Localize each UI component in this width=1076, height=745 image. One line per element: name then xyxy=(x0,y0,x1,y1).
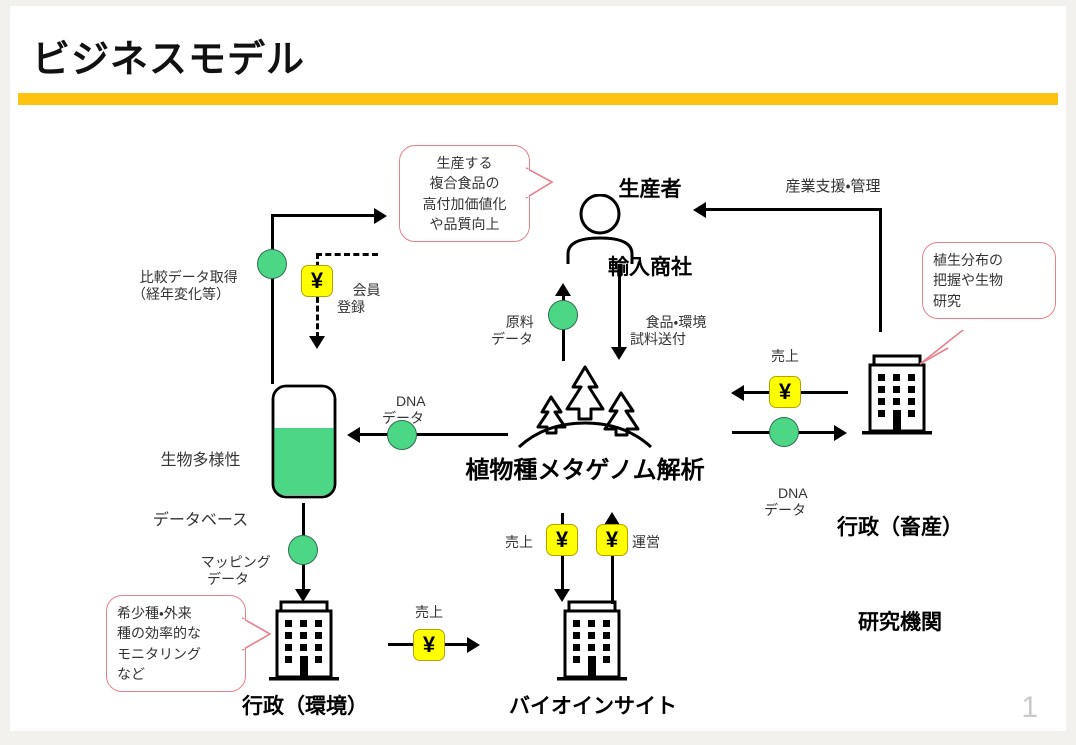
research-callout-tail xyxy=(902,324,972,374)
comparison-data-dot xyxy=(257,249,287,279)
bioinsight-building-icon xyxy=(551,600,633,686)
person-icon xyxy=(555,194,645,266)
comparison-flow-line-top xyxy=(271,214,376,217)
dna-right-arrow xyxy=(834,425,847,441)
bioinsight-label: バイオインサイト xyxy=(495,694,691,720)
research-callout: 植生分布の 把握や生物 研究 xyxy=(922,242,1056,319)
dna-right-dot xyxy=(769,417,799,447)
database-container-icon xyxy=(271,384,337,499)
dna-left-label: DNA データ xyxy=(372,375,434,445)
page-title: ビジネスモデル xyxy=(32,28,305,83)
material-data-label: 原料 データ xyxy=(482,296,542,366)
mapping-data-dot xyxy=(288,535,318,565)
gov-livestock-label: 行政（畜産） 研究機関 xyxy=(820,449,980,701)
gov-environment-building-icon xyxy=(263,600,345,686)
sales-center-badge: ¥ xyxy=(546,524,578,556)
material-data-dot xyxy=(548,300,578,330)
monitoring-callout: 希少種・外来 種の効率的な モニタリング など xyxy=(106,595,246,692)
sales-right-badge: ¥ xyxy=(769,376,801,408)
member-registration-label: 会員 登録 xyxy=(337,264,397,334)
forest-icon xyxy=(515,361,655,453)
industry-support-line-h xyxy=(704,208,882,211)
comparison-data-label: 比較データ取得 （経年変化等） xyxy=(115,251,247,321)
industry-support-line-v xyxy=(879,208,882,332)
producer-callout: 生産する 複合食品の 高付加価値化 や品質向上 xyxy=(399,145,530,242)
dna-left-flow-arrow xyxy=(347,427,360,443)
slide-canvas: ビジネスモデル 生産者 輸入商社 生産する 複合食品の 高付加価値化 や品質向上… xyxy=(10,6,1066,731)
gov-environment-label: 行政（環境） xyxy=(224,694,386,720)
metagenome-label: 植物種メタゲノム解析 xyxy=(455,456,715,486)
sales-right-arrow xyxy=(731,385,744,401)
operation-badge: ¥ xyxy=(596,524,628,556)
sales-right-label: 売上 xyxy=(763,348,807,366)
sales-bottom-arrow xyxy=(467,637,480,653)
accent-bar xyxy=(18,93,1058,105)
operation-label: 運営 xyxy=(632,534,676,552)
sales-bottom-label: 売上 xyxy=(407,604,451,622)
page-number: 1 xyxy=(1021,691,1038,725)
dna-right-label: DNA データ xyxy=(754,467,816,537)
industry-support-label: 産業支援・管理 xyxy=(760,178,906,197)
material-data-arrow xyxy=(555,283,571,296)
comparison-flow-arrow xyxy=(374,208,387,224)
member-flow-arrow xyxy=(309,336,325,349)
member-flow-line-top xyxy=(316,253,378,256)
member-registration-badge: ¥ xyxy=(301,265,333,297)
sample-shipping-line xyxy=(618,264,621,350)
sample-shipping-arrow xyxy=(611,347,627,360)
producer-callout-tail xyxy=(526,164,556,204)
industry-support-arrow xyxy=(693,202,706,218)
comparison-flow-line xyxy=(271,214,274,384)
sample-shipping-label: 食品・環境 試料送付 xyxy=(630,296,716,366)
sales-bottom-badge: ¥ xyxy=(413,629,445,661)
sales-center-label: 売上 xyxy=(497,534,541,552)
